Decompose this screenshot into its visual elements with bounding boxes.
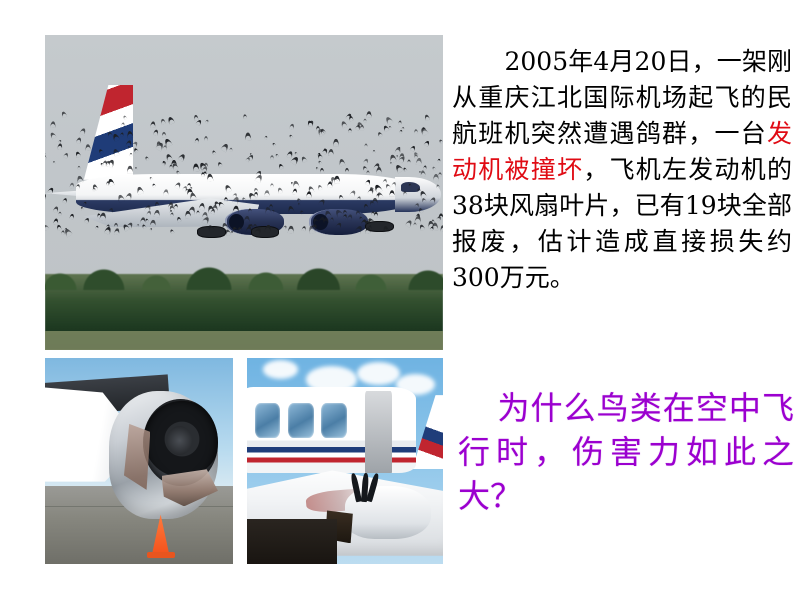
bird-icon [350, 189, 357, 197]
bird-icon [119, 132, 123, 137]
cabin-window-1 [255, 403, 280, 438]
bird-icon [76, 175, 84, 184]
bird-icon [127, 130, 134, 138]
bird-icon [224, 197, 228, 202]
cabin-door [365, 391, 392, 473]
bird-icon [328, 149, 334, 156]
bird-icon [47, 187, 54, 195]
bird-icon [277, 187, 283, 194]
bird-flock [45, 111, 443, 231]
bird-icon [75, 151, 81, 158]
bird-icon [407, 160, 410, 164]
bird-icon [394, 164, 403, 174]
bird-icon [117, 194, 125, 203]
bird-icon [58, 212, 61, 216]
bird-icon [398, 120, 402, 125]
bird-icon [341, 121, 348, 129]
bird-icon [300, 156, 307, 164]
bird-icon [221, 223, 228, 231]
bird-icon [287, 205, 294, 213]
bird-icon [399, 153, 405, 160]
bird-icon [391, 182, 397, 188]
bird-icon [168, 202, 174, 209]
bird-icon [322, 217, 329, 226]
bird-icon [419, 224, 426, 231]
bird-icon [376, 192, 384, 200]
bird-icon [432, 219, 436, 223]
bird-icon [383, 226, 390, 234]
narrative-part-1: 2005年4月20日，一架刚从重庆江北国际机场起飞的民航班机突然遭遇鸽群，一台 [452, 47, 792, 148]
bird-icon [108, 207, 114, 214]
bird-icon [374, 211, 379, 217]
bird-icon [45, 193, 47, 200]
bird-icon [161, 161, 167, 167]
bird-icon [292, 188, 297, 194]
bird-icon [108, 178, 115, 187]
bird-icon [414, 129, 419, 134]
propeller-blades [353, 473, 377, 502]
bird-icon [430, 196, 437, 204]
bird-icon [320, 128, 327, 135]
bird-icon [153, 210, 160, 218]
bird-icon [145, 218, 149, 223]
bird-icon [438, 213, 443, 219]
bird-icon [289, 123, 295, 130]
bird-icon [270, 183, 274, 188]
bird-icon [129, 153, 132, 156]
bird-icon [193, 164, 200, 172]
bird-icon [150, 219, 157, 227]
bird-icon [162, 145, 167, 151]
bird-icon [401, 126, 405, 130]
bird-icon [372, 198, 378, 205]
photo-birdstrike-jet [45, 35, 443, 350]
bird-icon [275, 153, 279, 157]
photo-damaged-wing [247, 358, 443, 564]
question-label: 为什么鸟类在空中飞行时，伤害力如此之大？ [458, 389, 794, 515]
bird-icon [270, 154, 274, 159]
bird-icon [144, 156, 149, 161]
bird-icon [112, 148, 120, 157]
bird-icon [316, 167, 319, 171]
bird-icon [195, 138, 200, 144]
bird-icon [77, 166, 80, 170]
slide-canvas: 2005年4月20日，一架刚从重庆江北国际机场起飞的民航班机突然遭遇鸽群，一台发… [0, 0, 800, 600]
bird-icon [301, 226, 306, 232]
bird-icon [50, 121, 56, 128]
bird-icon [149, 176, 153, 180]
bird-icon [233, 205, 240, 213]
bird-icon [348, 128, 352, 133]
bird-icon [414, 154, 418, 159]
bird-icon [365, 179, 372, 186]
bird-icon [175, 169, 180, 174]
bird-icon [300, 210, 305, 216]
bird-icon [440, 225, 443, 232]
bird-icon [385, 116, 394, 126]
bird-icon [224, 185, 232, 194]
bird-icon [408, 184, 412, 188]
bird-icon [316, 126, 320, 131]
bird-icon [62, 152, 68, 159]
bird-icon [217, 161, 223, 167]
cabin-window-3 [321, 403, 346, 438]
bird-icon [360, 124, 364, 130]
bird-icon [318, 160, 323, 165]
bird-icon [288, 225, 295, 233]
bird-icon [160, 118, 166, 124]
bird-icon [356, 196, 361, 201]
bird-icon [136, 223, 139, 227]
bird-icon [85, 144, 91, 151]
cloud-4 [263, 360, 298, 379]
bird-icon [424, 114, 430, 121]
bird-icon [207, 173, 214, 181]
bird-icon [167, 116, 175, 125]
bird-icon [334, 175, 340, 183]
bird-icon [125, 192, 133, 201]
bird-icon [196, 211, 199, 215]
discussion-question: 为什么鸟类在空中飞行时，伤害力如此之大？ [458, 386, 794, 518]
bird-icon [187, 188, 194, 197]
bird-icon [131, 141, 138, 149]
bird-icon [403, 167, 408, 172]
traffic-cone-base [147, 552, 175, 558]
bird-icon [188, 206, 196, 215]
bird-icon [415, 158, 422, 166]
bird-icon [243, 215, 250, 223]
bird-icon [294, 151, 298, 155]
bird-icon [211, 150, 216, 155]
photo-damaged-engine [45, 358, 233, 564]
bird-icon [423, 140, 430, 147]
bird-icon [123, 115, 128, 120]
bird-icon [163, 189, 169, 196]
bird-icon [278, 164, 284, 171]
bird-icon [423, 165, 427, 170]
bird-icon [377, 131, 383, 137]
bird-icon [53, 161, 56, 164]
bird-icon [161, 131, 166, 137]
bird-icon [150, 121, 156, 128]
bird-icon [437, 158, 441, 162]
bird-icon [245, 132, 252, 140]
bird-icon [204, 136, 208, 141]
bird-icon [98, 149, 104, 155]
bird-icon [366, 111, 372, 118]
bird-icon [418, 207, 424, 214]
bird-icon [363, 204, 368, 210]
bird-icon [199, 203, 206, 211]
bird-icon [170, 210, 173, 213]
bird-icon [363, 158, 369, 165]
bird-icon [70, 182, 75, 188]
bird-icon [338, 195, 343, 201]
bird-icon [265, 190, 271, 197]
bird-icon [421, 198, 427, 204]
bird-icon [76, 137, 82, 144]
bird-icon [289, 134, 294, 139]
bird-icon [84, 217, 90, 224]
bird-icon [136, 186, 144, 195]
bird-icon [60, 111, 67, 118]
bird-icon [241, 196, 246, 202]
shadowed-area [247, 519, 337, 564]
bird-icon [318, 199, 326, 208]
bird-icon [320, 167, 325, 173]
cabin-window-2 [288, 403, 313, 438]
bird-icon [338, 159, 345, 167]
bird-icon [155, 202, 160, 208]
bird-icon [135, 167, 138, 170]
ground-strip [45, 331, 443, 350]
bird-icon [264, 135, 268, 139]
bird-icon [229, 147, 232, 151]
bird-icon [243, 114, 248, 119]
bird-icon [57, 143, 63, 150]
narrative-paragraph: 2005年4月20日，一架刚从重庆江北国际机场起飞的民航班机突然遭遇鸽群，一台发… [452, 44, 792, 296]
bird-icon [345, 168, 349, 174]
bird-icon [56, 224, 62, 230]
bird-icon [114, 227, 120, 234]
bird-icon [177, 216, 182, 222]
bird-icon [365, 144, 368, 148]
bird-icon [389, 190, 395, 197]
bird-icon [410, 145, 417, 152]
bird-icon [333, 138, 339, 145]
bird-icon [363, 119, 366, 123]
bird-icon [282, 225, 287, 230]
bird-icon [438, 172, 442, 177]
bird-icon [171, 162, 179, 170]
bird-icon [63, 197, 69, 203]
bird-icon [49, 131, 57, 139]
bird-icon [133, 147, 139, 153]
bird-icon [330, 217, 334, 222]
bird-icon [76, 184, 81, 190]
bird-icon [366, 171, 369, 175]
bird-icon [245, 156, 251, 162]
bird-icon [308, 185, 315, 193]
bird-icon [336, 222, 343, 230]
bird-icon [438, 139, 443, 144]
bird-icon [431, 166, 436, 171]
bird-icon [436, 184, 440, 189]
bird-icon [81, 207, 84, 211]
bird-icon [248, 208, 252, 213]
bird-icon [125, 139, 132, 147]
bird-icon [420, 170, 426, 177]
bird-icon [205, 119, 209, 124]
bird-icon [95, 225, 99, 229]
bird-icon [232, 196, 241, 205]
bird-icon [53, 218, 59, 225]
bird-icon [126, 165, 132, 173]
bird-icon [121, 122, 125, 127]
bird-icon [419, 126, 428, 136]
bird-icon [151, 183, 155, 188]
cloud-2 [357, 362, 400, 385]
bird-icon [153, 129, 159, 136]
bird-icon [217, 201, 224, 208]
bird-icon [403, 190, 408, 195]
bird-icon [70, 213, 75, 219]
fan-spinner [167, 426, 191, 455]
bird-icon [317, 185, 323, 191]
bird-icon [347, 214, 353, 221]
bird-icon [405, 219, 413, 228]
bird-icon [272, 142, 276, 147]
bird-icon [373, 150, 376, 153]
bird-icon [79, 128, 86, 136]
bird-icon [317, 153, 323, 160]
bird-icon [298, 203, 301, 207]
bird-icon [83, 201, 87, 206]
bird-icon [142, 224, 147, 229]
